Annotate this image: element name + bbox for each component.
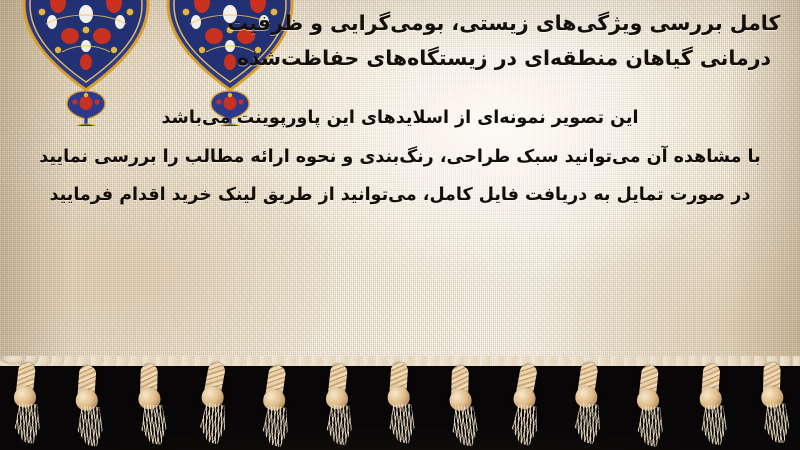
fringe-tassel [688, 363, 735, 449]
body-line-3: در صورت تمایل به دریافت فایل کامل، می‌تو… [24, 187, 776, 205]
slide-canvas: کامل بررسی ویژگی‌های زیستی، بومی‌گرایی و… [0, 0, 800, 450]
carpet-fringe-tassels [0, 364, 800, 450]
fringe-tassel [252, 365, 299, 450]
fringe-tassel [563, 362, 610, 448]
fringe-tassel [188, 361, 238, 448]
tassel-brush [508, 403, 540, 446]
tassel-brush [388, 403, 415, 444]
fringe-tassel [376, 362, 423, 448]
fringe-tassel [65, 365, 112, 450]
body-line-1: این تصویر نمونه‌ای از اسلایدهای این پاور… [24, 110, 776, 128]
fringe-tassel [4, 363, 48, 447]
tassel-brush [324, 404, 353, 446]
tassel-brush [13, 403, 42, 445]
tassel-brush [572, 402, 602, 445]
slide-title: کامل بررسی ویژگی‌های زیستی، بومی‌گرایی و… [224, 6, 784, 77]
fringe-tassel [500, 362, 550, 449]
tassel-brush [197, 402, 229, 445]
tassel-brush [77, 406, 104, 447]
tassel-brush [763, 403, 789, 443]
slide-text-layer: کامل بررسی ویژگی‌های زیستی، بومی‌گرایی و… [0, 0, 800, 372]
tassel-brush [140, 405, 166, 445]
fringe-tassel [749, 361, 799, 448]
slide-body-block: این تصویر نمونه‌ای از اسلایدهای این پاور… [24, 110, 776, 205]
fringe-tassel [437, 364, 487, 450]
body-line-2: با مشاهده آن می‌توانید سبک طراحی، رنگ‌بن… [24, 149, 776, 167]
fringe-tassel [126, 362, 176, 449]
fringe-tassel [627, 366, 671, 450]
tassel-brush [452, 406, 478, 446]
fringe-tassel [316, 364, 360, 448]
tassel-brush [700, 405, 727, 446]
tassel-brush [636, 406, 665, 448]
tassel-brush [261, 405, 291, 448]
